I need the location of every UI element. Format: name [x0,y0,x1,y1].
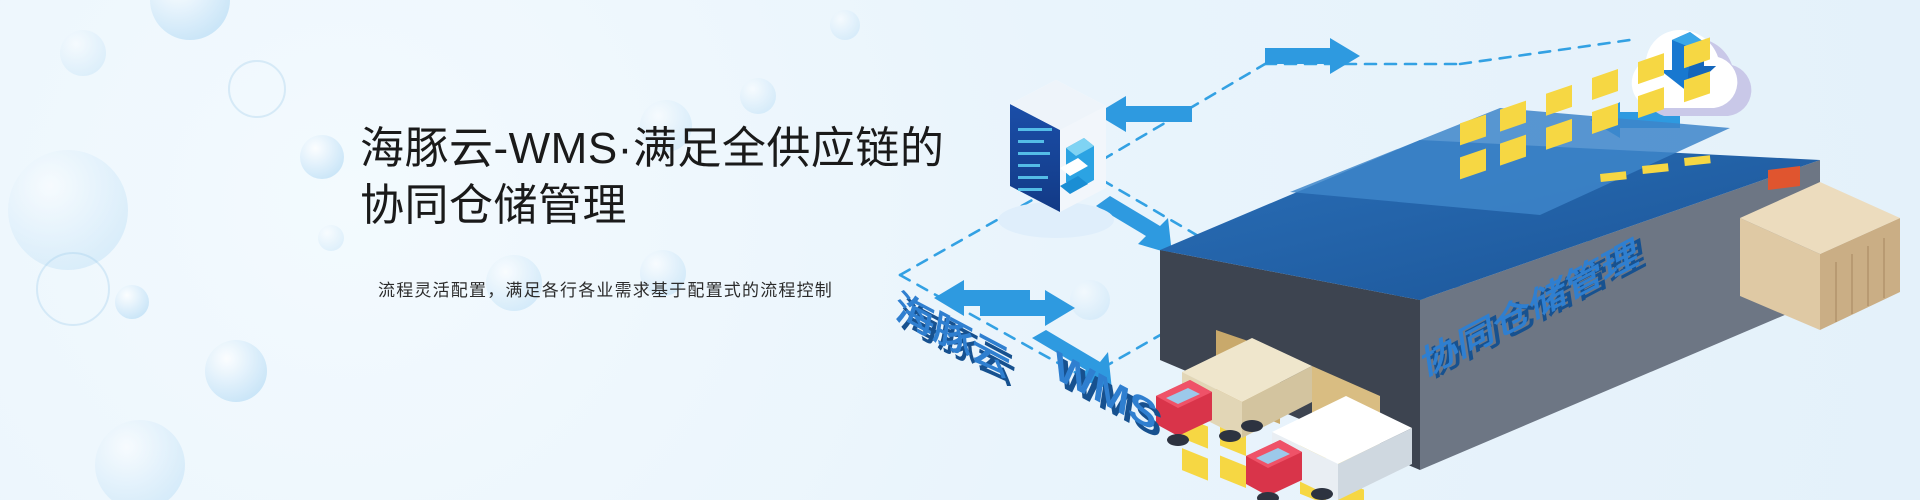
bubble-decor [95,420,185,500]
bubble-ring-decor [36,252,110,326]
bubble-decor [830,10,860,40]
bubble-decor [115,285,149,319]
bubble-decor [8,150,128,270]
bubble-decor [300,135,344,179]
hero-banner: 海豚云-WMS·满足全供应链的 协同仓储管理 流程灵活配置，满足各行各业需求基于… [0,0,1920,500]
hero-illustration: 海豚云 海豚云 WMS WMS 协同仓储管理 协同仓储管理 [860,0,1920,500]
bubble-decor [60,30,106,76]
bubble-decor [150,0,230,40]
bubble-decor [318,225,344,251]
bubble-ring-decor [228,60,286,118]
server-rack-icon [998,80,1114,238]
bubble-decor [740,78,776,114]
bubble-decor [205,340,267,402]
